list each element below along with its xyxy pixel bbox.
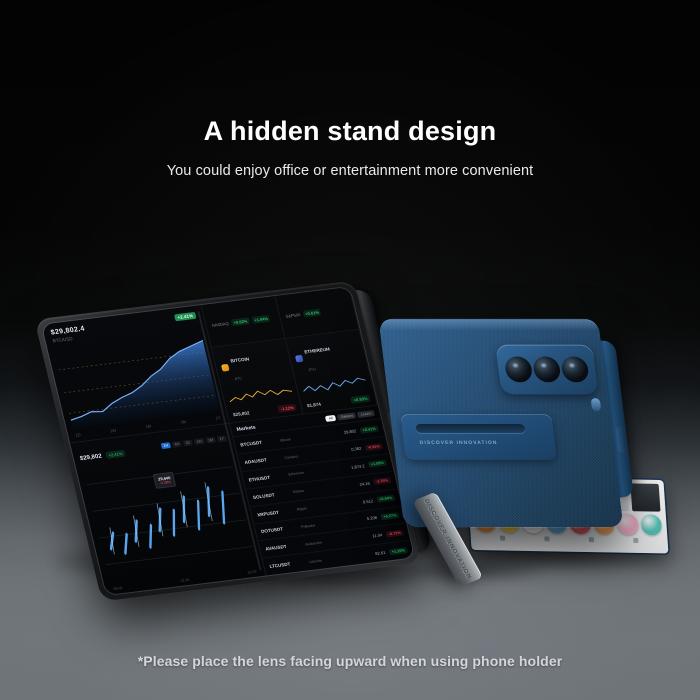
axis-tick: 1M (145, 424, 152, 430)
chip-gainers[interactable]: Gainers (337, 413, 357, 421)
coin-price: $29,802 (233, 411, 250, 418)
sparkline-eth (302, 376, 368, 396)
camera-lens (532, 356, 561, 382)
row-name: Avalanche (305, 535, 369, 547)
tooltip-change: -0.38% (159, 480, 172, 485)
chart-change-badge: +2.41% (174, 312, 197, 321)
mini-ticker-value: +0.61% (302, 308, 321, 317)
coin-card-header: ETHEREUM ETH (292, 334, 363, 377)
eth-icon (295, 355, 304, 363)
main-chart-panel[interactable]: $29,802.4 BTC/USD +2.41% (42, 305, 230, 443)
mini-ticker-value-2: +1.04% (251, 315, 270, 324)
coin-name: BITCOIN (230, 356, 250, 363)
coin-name: ETHEREUM (304, 346, 330, 354)
row-name: Ripple (296, 500, 359, 511)
axis-tick: 1Y (215, 415, 221, 420)
chip-losers[interactable]: Losers (357, 410, 375, 418)
ticker-cards-panel: NASDAQ +0.82% +1.04% S&P500 +0.61% (202, 287, 378, 423)
area-chart (54, 331, 220, 429)
coin-symbol: ETH (308, 367, 316, 372)
axis-tick: 12:00 (180, 578, 190, 583)
btc-icon (221, 364, 230, 372)
case-brand-logo: DISCOVER INNOVATION (419, 440, 497, 446)
dock-dot (544, 536, 549, 541)
kickstand-slot (415, 424, 525, 433)
row-change: +2.41% (360, 425, 379, 433)
row-change: -1.34% (373, 477, 391, 485)
row-name: Ethereum (288, 466, 348, 477)
row-symbol: DOTUSDT (261, 525, 298, 534)
mini-ticker-label: S&P500 (285, 312, 301, 319)
row-change: +0.64% (376, 495, 395, 503)
row-change: +1.16% (389, 547, 408, 555)
footnote-text: *Please place the lens facing upward whe… (0, 653, 700, 669)
tab-1y[interactable]: 1Y (217, 436, 228, 443)
watchlist-title: Markets (236, 425, 256, 433)
kickstand-housing[interactable]: DISCOVER INNOVATION (400, 414, 557, 460)
inner-display[interactable]: $29,802.4 BTC/USD +2.41% (42, 287, 415, 595)
page-title: A hidden stand design (0, 116, 700, 147)
row-change: -0.91% (365, 443, 383, 451)
left-phone-unfolded: $29,802.4 BTC/USD +2.41% (34, 280, 421, 601)
row-symbol: AVAUSDT (265, 542, 302, 551)
coin-change: -1.12% (278, 404, 297, 413)
axis-tick: 1W (110, 428, 117, 434)
axis-tick: 3M (180, 419, 187, 425)
row-price: 24.16 (359, 481, 370, 487)
row-name: Bitcoin (280, 431, 341, 442)
flash-icon (591, 398, 602, 411)
chip-all[interactable]: All (325, 415, 336, 422)
coin-symbol: BTC (234, 376, 242, 381)
product-banner: $29,802.4 BTC/USD +2.41% (0, 0, 700, 700)
row-name: Solana (292, 483, 356, 495)
coin-price: $1,874 (307, 402, 322, 409)
cover-app-icon[interactable] (640, 514, 662, 535)
chart-tooltip: 29,640 -0.38% (153, 472, 177, 489)
candlestick-chart (81, 446, 256, 582)
phone-chassis: $29,802.4 BTC/USD +2.41% (34, 280, 421, 601)
sparkline-btc (228, 385, 294, 405)
candle-badge: +2.41% (105, 450, 125, 459)
row-price: 82.61 (375, 550, 386, 556)
row-name: Cardano (284, 448, 348, 460)
row-symbol: SOLUSDT (252, 490, 289, 499)
row-price: 0.512 (362, 498, 373, 504)
case-top-edge (381, 320, 598, 331)
dock-dot (633, 537, 638, 542)
tab-4h[interactable]: 4H (172, 441, 183, 448)
row-change: +1.08% (368, 460, 387, 468)
row-symbol: ETHUSDT (248, 473, 285, 482)
cover-card (630, 483, 661, 511)
tab-1d[interactable]: 1D (182, 440, 193, 447)
axis-tick: 15:00 (247, 570, 257, 575)
tab-1w[interactable]: 1W (193, 438, 205, 445)
tab-1h[interactable]: 1H (161, 442, 172, 449)
row-name: Polkadot (301, 518, 364, 529)
camera-module (495, 345, 598, 395)
dock-dot (500, 535, 505, 540)
blue-case-back: DISCOVER INNOVATION (378, 319, 623, 527)
row-symbol: XRPUSDT (257, 508, 294, 517)
dock-dot (589, 537, 594, 542)
page-subtitle: You could enjoy office or entertainment … (0, 163, 700, 179)
row-price: 0.382 (351, 446, 362, 452)
right-phone-folded: DISCOVER INNOVATION (378, 319, 623, 527)
row-symbol: BTCUSDT (240, 438, 277, 447)
row-symbol: LTCUSDT (269, 560, 306, 569)
row-change: +0.27% (380, 512, 399, 520)
camera-lens (560, 356, 589, 382)
camera-lens (504, 356, 533, 382)
coin-change: +0.93% (350, 395, 370, 404)
tab-1m[interactable]: 1M (205, 437, 216, 444)
axis-tick: 09:00 (113, 586, 123, 591)
mini-ticker-value: +0.82% (231, 317, 250, 326)
row-price: 29,802 (343, 429, 356, 435)
row-change: -0.73% (385, 529, 403, 537)
row-symbol: ADAUSDT (244, 456, 281, 465)
row-price: 1,874.2 (351, 463, 366, 470)
coin-card-header: BITCOIN BTC (218, 343, 289, 386)
row-name: Litecoin (309, 552, 372, 563)
row-price: 5.208 (366, 515, 377, 521)
row-price: 11.04 (372, 533, 383, 539)
axis-tick: 1D (75, 432, 81, 437)
mini-ticker-label: NASDAQ (211, 321, 229, 328)
